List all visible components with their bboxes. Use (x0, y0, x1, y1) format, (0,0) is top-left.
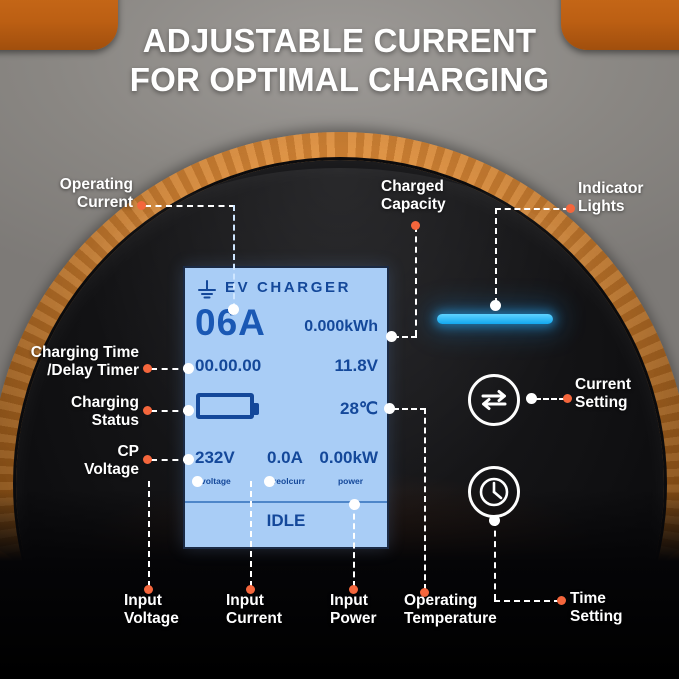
lcd-input-current: 0.0A (267, 448, 303, 468)
product-infographic: ADJUSTABLE CURRENT FOR OPTIMAL CHARGING … (0, 0, 679, 679)
leader-operating-temperature-h (393, 408, 426, 410)
lcd-input-voltage: 232V (195, 448, 235, 468)
leader-indicator-lights-v (495, 208, 497, 304)
callout-input-current-l2: Current (226, 610, 282, 628)
leader-input-power-v (353, 504, 355, 587)
leader-end-input-current (264, 476, 275, 487)
leader-dot-cp-voltage (143, 455, 152, 464)
callout-current-setting-l2: Setting (575, 394, 631, 412)
ground-earth-icon (196, 278, 218, 300)
leader-indicator-lights-h (495, 208, 569, 210)
leader-end-operating-temperature (384, 403, 395, 414)
leader-end-input-voltage (192, 476, 203, 487)
headline: ADJUSTABLE CURRENT FOR OPTIMAL CHARGING (0, 22, 679, 100)
leader-end-charged-capacity (386, 331, 397, 342)
leader-end-charging-time (183, 363, 194, 374)
current-setting-button[interactable] (468, 374, 520, 426)
callout-input-power: Input Power (330, 592, 377, 628)
leader-dot-charged-capacity (411, 221, 420, 230)
lcd-input-power: 0.00kW (319, 448, 378, 468)
leader-dot-charging-time (143, 364, 152, 373)
lcd-cp-voltage: 11.8V (335, 356, 379, 376)
lcd-label-realcurr: reolcurr (273, 476, 305, 486)
callout-time-setting: Time Setting (570, 590, 623, 626)
leader-dot-time-setting (557, 596, 566, 605)
callout-input-current: Input Current (226, 592, 282, 628)
leader-operating-current-h (145, 205, 235, 207)
lcd-temperature: 28℃ (340, 399, 378, 419)
callout-indicator-lights: Indicator Lights (578, 180, 643, 216)
callout-charged-capacity: Charged Capacity (381, 178, 446, 214)
callout-indicator-lights-l2: Lights (578, 198, 643, 216)
callout-input-current-l1: Input (226, 592, 282, 610)
callout-input-voltage-l1: Input (124, 592, 179, 610)
callout-charging-time: Charging Time /Delay Timer (0, 344, 139, 380)
callout-indicator-lights-l1: Indicator (578, 180, 643, 198)
leader-operating-temperature-v (424, 408, 426, 590)
leader-input-voltage-v (148, 481, 150, 587)
lcd-measure-labels: voltage reolcurr power (185, 476, 387, 492)
leader-dot-indicator-lights (566, 204, 575, 213)
swap-arrows-icon (471, 377, 517, 423)
callout-input-voltage-l2: Voltage (124, 610, 179, 628)
callout-time-setting-l2: Setting (570, 608, 623, 626)
callout-cp-voltage: CP Voltage (0, 443, 139, 479)
callout-charged-capacity-l1: Charged (381, 178, 446, 196)
lcd-charged-capacity: 0.000kWh (304, 318, 378, 336)
time-setting-button[interactable] (468, 466, 520, 518)
leader-input-current-v (250, 481, 252, 587)
leader-dot-operating-current (137, 201, 146, 210)
callout-cp-voltage-l1: CP (0, 443, 139, 461)
lcd-title: EV CHARGER (225, 279, 351, 296)
callout-operating-current: Operating Current (0, 176, 133, 212)
callout-operating-temperature-l2: Temperature (404, 610, 497, 628)
leader-dot-charging-status (143, 406, 152, 415)
lcd-status: IDLE (185, 511, 387, 531)
callout-operating-current-l1: Operating (0, 176, 133, 194)
leader-dot-current-setting (563, 394, 572, 403)
leader-time-setting-h (494, 600, 560, 602)
callout-operating-current-l2: Current (0, 194, 133, 212)
leader-time-setting-v (494, 520, 496, 600)
leader-operating-current-v (233, 205, 235, 309)
callout-operating-temperature: Operating Temperature (404, 592, 497, 628)
lcd-label-power: power (338, 476, 363, 486)
headline-line-1: ADJUSTABLE CURRENT (0, 22, 679, 61)
clock-icon (471, 469, 517, 515)
callout-current-setting: Current Setting (575, 376, 631, 412)
callout-charging-status: Charging Status (0, 394, 139, 430)
indicator-light-bar (437, 314, 553, 324)
callout-charged-capacity-l2: Capacity (381, 196, 446, 214)
leader-end-input-power (349, 499, 360, 510)
callout-charging-status-l2: Status (0, 412, 139, 430)
callout-time-setting-l1: Time (570, 590, 623, 608)
leader-end-cp-voltage (183, 454, 194, 465)
callout-charging-time-l2: /Delay Timer (0, 362, 139, 380)
callout-charging-status-l1: Charging (0, 394, 139, 412)
lcd-measure-row: 232V 0.0A 0.00kW (185, 448, 387, 474)
leader-end-operating-current (228, 304, 239, 315)
leader-current-setting-h (535, 398, 565, 400)
leader-end-time-setting (489, 515, 500, 526)
battery-icon (196, 393, 254, 419)
callout-input-power-l2: Power (330, 610, 377, 628)
leader-end-current-setting (526, 393, 537, 404)
callout-current-setting-l1: Current (575, 376, 631, 394)
callout-operating-temperature-l1: Operating (404, 592, 497, 610)
leader-end-charging-status (183, 405, 194, 416)
callout-input-power-l1: Input (330, 592, 377, 610)
leader-end-indicator-lights (490, 300, 501, 311)
callout-input-voltage: Input Voltage (124, 592, 179, 628)
headline-line-2: FOR OPTIMAL CHARGING (0, 61, 679, 100)
callout-cp-voltage-l2: Voltage (0, 461, 139, 479)
callout-charging-time-l1: Charging Time (0, 344, 139, 362)
lcd-charging-timer: 00.00.00 (195, 356, 261, 376)
lcd-label-voltage: voltage (201, 476, 231, 486)
leader-charged-capacity-v (415, 226, 417, 336)
